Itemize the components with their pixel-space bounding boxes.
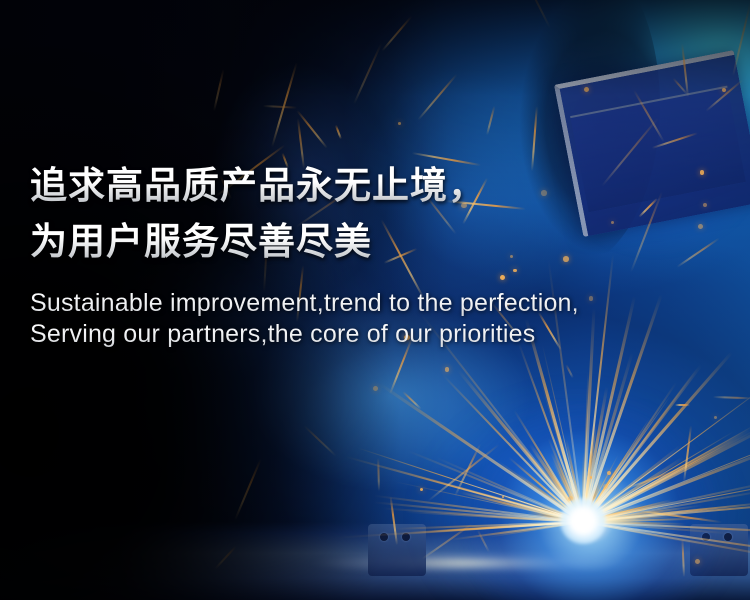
- headline-cn-line-2: 为用户服务尽善尽美: [30, 214, 720, 270]
- welding-arc-core: [560, 498, 606, 544]
- spark-streak: [417, 74, 457, 121]
- spark-streak: [213, 68, 224, 110]
- spark-ember: [398, 122, 401, 125]
- spark-streak: [381, 15, 412, 51]
- slogan-block: 追求高品质产品永无止境， 为用户服务尽善尽美 Sustainable impro…: [30, 158, 720, 350]
- spark-streak: [353, 42, 382, 104]
- headline-en-line-1: Sustainable improvement,trend to the per…: [30, 288, 720, 319]
- subheadline-en-block: Sustainable improvement,trend to the per…: [30, 288, 720, 350]
- spark-streak: [296, 110, 328, 149]
- spark-streak: [272, 63, 299, 148]
- spark-ember: [373, 386, 378, 391]
- headline-en-line-2: Serving our partners,the core of our pri…: [30, 319, 720, 350]
- spark-streak: [335, 125, 342, 140]
- headline-cn-line-1: 追求高品质产品永无止境，: [30, 158, 720, 214]
- spark-streak: [263, 105, 297, 109]
- hero-banner: 追求高品质产品永无止境， 为用户服务尽善尽美 Sustainable impro…: [0, 0, 750, 600]
- spark-streak: [303, 425, 336, 456]
- spark-streak: [234, 459, 262, 521]
